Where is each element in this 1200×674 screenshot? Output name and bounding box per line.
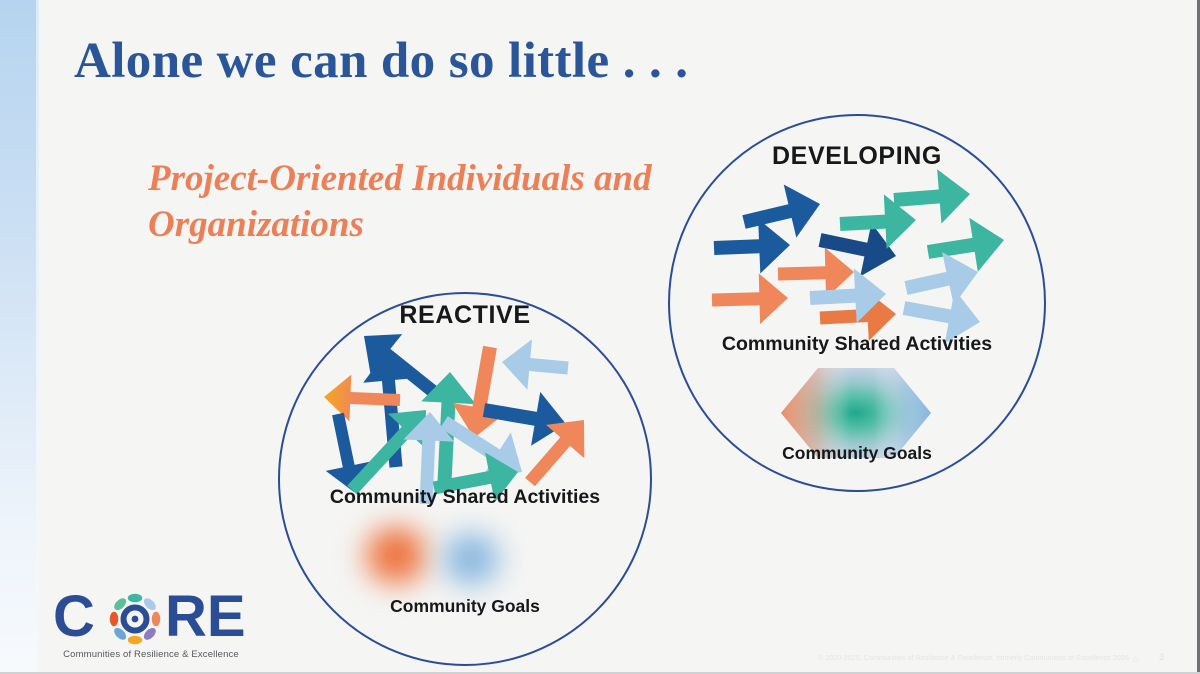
developing-activities-label: Community Shared Activities <box>668 333 1046 356</box>
left-accent-strip-edge <box>36 0 39 674</box>
core-logo: C RE Communities of Resilience & Excelle… <box>53 586 253 664</box>
arrow-shape <box>738 177 827 248</box>
arrow <box>738 177 827 248</box>
home-icon[interactable]: ⌂ <box>1133 654 1138 664</box>
reactive-activities-label: Community Shared Activities <box>278 486 652 509</box>
logo-petal <box>152 612 161 626</box>
page-title: Alone we can do so little . . . <box>74 32 688 90</box>
arrow <box>500 337 571 393</box>
arrow <box>711 273 788 326</box>
page-number: 3 <box>1159 652 1164 662</box>
subtitle-text: Project-Oriented Individuals and Organiz… <box>148 156 708 248</box>
arrow <box>479 383 570 451</box>
arrow-shape <box>315 409 377 496</box>
left-accent-strip <box>0 0 36 674</box>
goal-blob-blue <box>436 529 506 589</box>
core-logo-mark: C RE <box>53 586 249 648</box>
developing-diagram: DEVELOPING Community Shared Activities <box>668 114 1046 492</box>
logo-petal <box>110 612 119 626</box>
reactive-goals-blobs <box>338 519 588 599</box>
developing-title: DEVELOPING <box>668 142 1046 171</box>
logo-tagline: Communities of Resilience & Excellence <box>53 649 249 660</box>
reactive-diagram: REACTIVE Community Shared Activities Com… <box>278 292 652 666</box>
logo-letters-re: RE <box>165 586 246 648</box>
arrow <box>315 409 377 496</box>
arrow-shape <box>479 383 570 451</box>
reactive-title: REACTIVE <box>278 301 652 330</box>
goal-blob-orange <box>360 523 434 589</box>
logo-petal <box>128 594 142 603</box>
presentation-slide: Alone we can do so little . . . Project-… <box>0 0 1200 674</box>
logo-letter-c: C <box>53 586 95 648</box>
reactive-goals-label: Community Goals <box>278 596 652 617</box>
logo-o-center-dot <box>132 616 139 623</box>
arrow-shape <box>711 273 788 326</box>
arrow-shape <box>500 337 571 393</box>
developing-goals-label: Community Goals <box>668 443 1046 464</box>
logo-petal <box>128 636 142 645</box>
footer-copyright: © 2020-2025, Communities of Resilience &… <box>818 653 1129 662</box>
